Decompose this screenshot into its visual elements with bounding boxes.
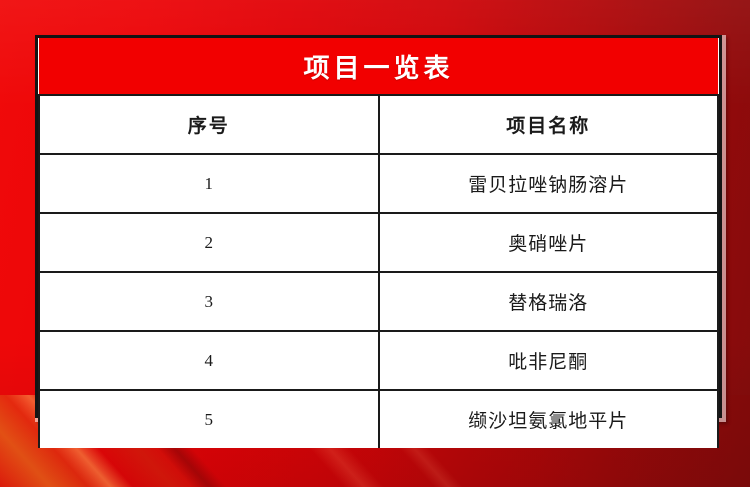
column-header-name: 项目名称	[379, 95, 719, 154]
cell-name: 奥硝唑片	[379, 213, 719, 272]
column-header-index: 序号	[39, 95, 379, 154]
table-row: 2 奥硝唑片	[39, 213, 718, 272]
cell-name: 雷贝拉唑钠肠溶片	[379, 154, 719, 213]
table-title-row: 项目一览表	[39, 38, 718, 95]
slide-canvas: 项目一览表 序号 项目名称 1 雷贝拉唑钠肠溶片 2 奥硝唑片 3 替格瑞洛	[0, 0, 750, 487]
table-row: 4 吡非尼酮	[39, 331, 718, 390]
cell-index: 5	[39, 390, 379, 448]
cell-index: 1	[39, 154, 379, 213]
table-title: 项目一览表	[39, 38, 718, 95]
cell-index: 2	[39, 213, 379, 272]
table-row: 5 缬沙坦氨氯地平片	[39, 390, 718, 448]
project-table-container: 项目一览表 序号 项目名称 1 雷贝拉唑钠肠溶片 2 奥硝唑片 3 替格瑞洛	[35, 35, 722, 418]
table-header-row: 序号 项目名称	[39, 95, 718, 154]
table-row: 1 雷贝拉唑钠肠溶片	[39, 154, 718, 213]
cell-index: 4	[39, 331, 379, 390]
cell-name: 吡非尼酮	[379, 331, 719, 390]
ribbon-streak	[0, 395, 37, 487]
table-row: 3 替格瑞洛	[39, 272, 718, 331]
cell-name: 替格瑞洛	[379, 272, 719, 331]
cell-index: 3	[39, 272, 379, 331]
project-table: 项目一览表 序号 项目名称 1 雷贝拉唑钠肠溶片 2 奥硝唑片 3 替格瑞洛	[38, 38, 719, 448]
cell-name: 缬沙坦氨氯地平片	[379, 390, 719, 448]
